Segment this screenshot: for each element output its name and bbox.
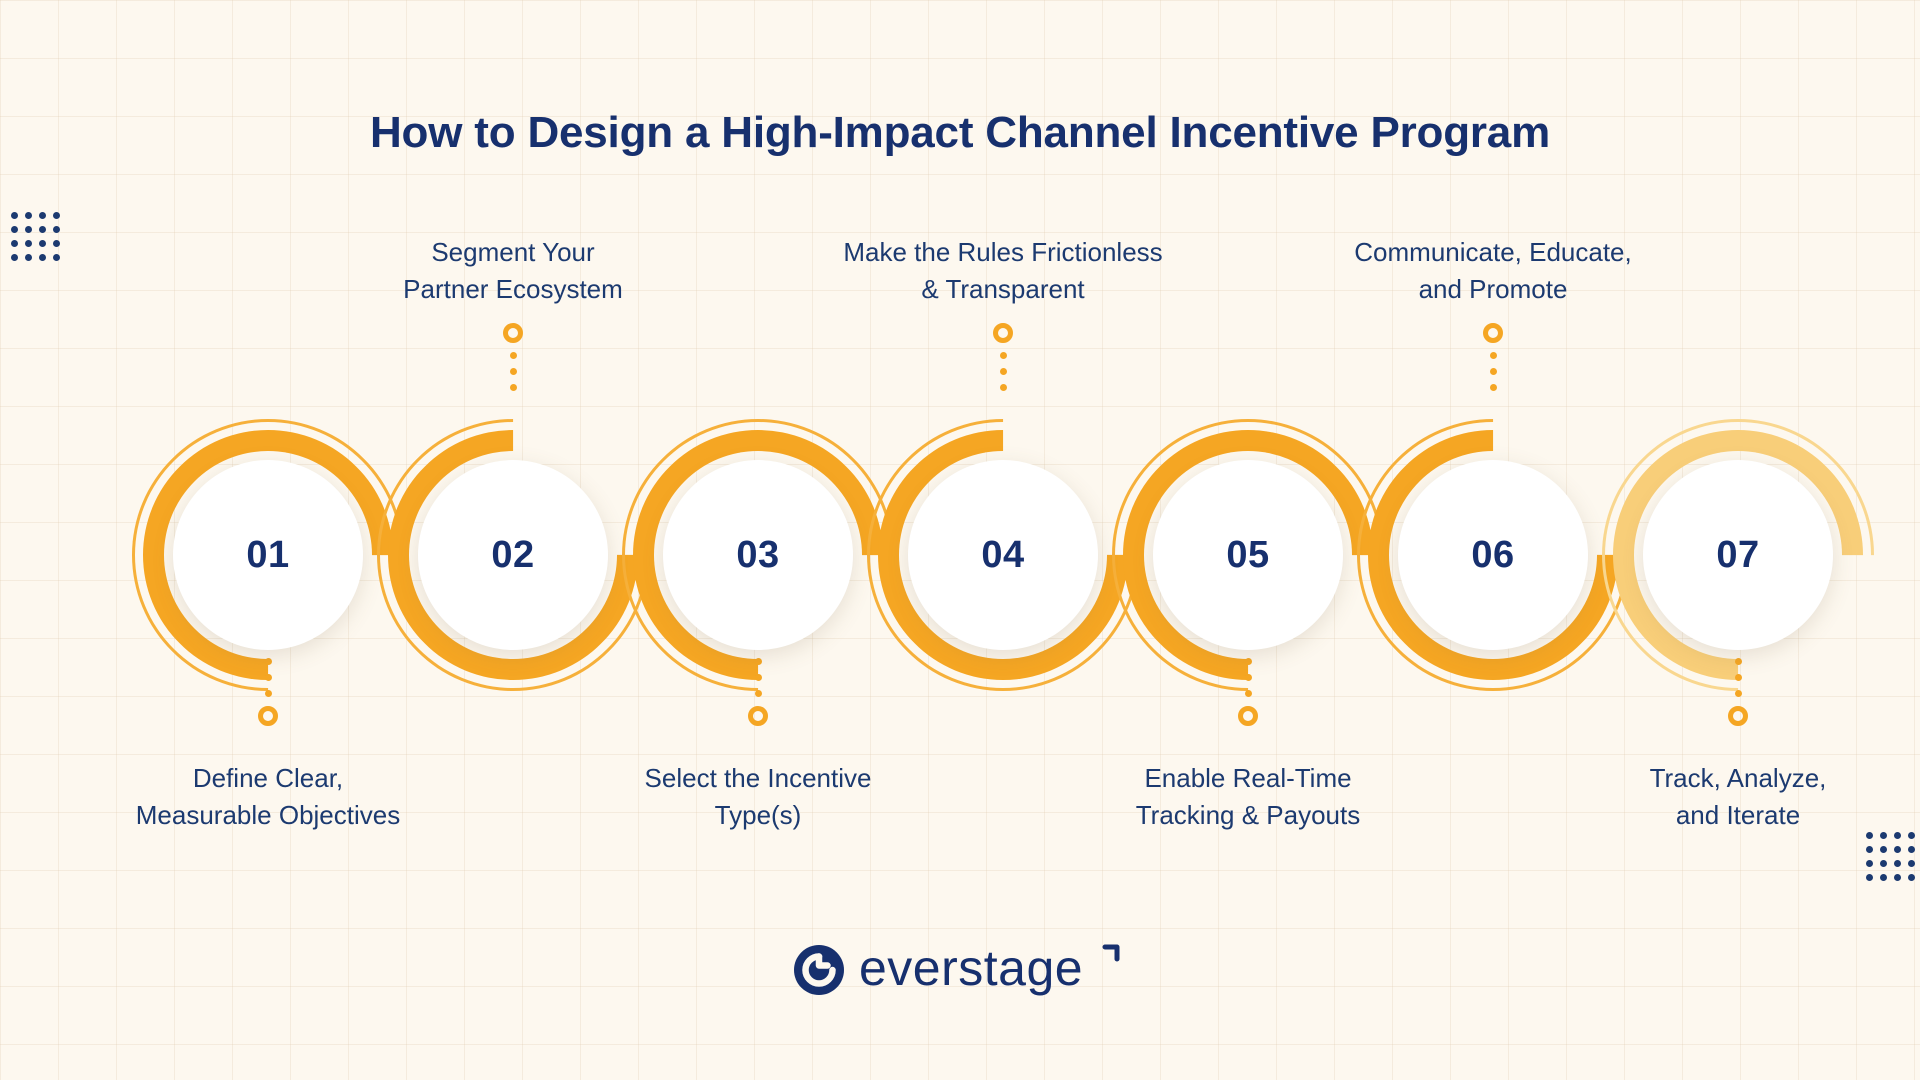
step-number-label: 01 xyxy=(246,534,289,577)
step-circle-03[interactable]: 03 xyxy=(663,460,853,650)
connector-dot xyxy=(1000,384,1007,391)
step-connector-06 xyxy=(1483,323,1503,391)
step-circle-01[interactable]: 01 xyxy=(173,460,363,650)
decorative-dot xyxy=(1866,860,1873,867)
decorative-dot xyxy=(53,254,60,261)
step-caption-05: Enable Real-Time Tracking & Payouts xyxy=(1038,760,1458,834)
decorative-dot xyxy=(1880,874,1887,881)
connector-ring-icon xyxy=(748,706,768,726)
connector-dot xyxy=(1000,352,1007,359)
decorative-dot xyxy=(53,212,60,219)
connector-dot xyxy=(1490,384,1497,391)
decorative-dot xyxy=(39,240,46,247)
connector-dot xyxy=(1245,658,1252,665)
step-connector-04 xyxy=(993,323,1013,391)
connector-dot xyxy=(1000,368,1007,375)
connector-ring-icon xyxy=(1483,323,1503,343)
decorative-dot xyxy=(1908,860,1915,867)
step-number-label: 06 xyxy=(1471,534,1514,577)
step-caption-06: Communicate, Educate, and Promote xyxy=(1283,234,1703,308)
step-number-label: 02 xyxy=(491,534,534,577)
decorative-dots-top-left xyxy=(7,208,63,264)
everstage-wordmark: everstage xyxy=(859,938,1127,1007)
step-number-label: 07 xyxy=(1716,534,1759,577)
step-number-label: 03 xyxy=(736,534,779,577)
decorative-dot xyxy=(11,226,18,233)
decorative-dot xyxy=(11,240,18,247)
decorative-dot xyxy=(39,226,46,233)
decorative-dot xyxy=(1880,846,1887,853)
step-circle-06[interactable]: 06 xyxy=(1398,460,1588,650)
decorative-dot xyxy=(1866,846,1873,853)
step-connector-02 xyxy=(503,323,523,391)
decorative-dot xyxy=(11,254,18,261)
step-connector-03 xyxy=(748,658,768,726)
connector-dot xyxy=(1245,690,1252,697)
decorative-dot xyxy=(1894,846,1901,853)
step-caption-03: Select the Incentive Type(s) xyxy=(548,760,968,834)
decorative-dot xyxy=(39,212,46,219)
decorative-dot xyxy=(25,212,32,219)
connector-dot xyxy=(1735,674,1742,681)
decorative-dot xyxy=(25,254,32,261)
step-caption-01: Define Clear, Measurable Objectives xyxy=(58,760,478,834)
decorative-dot xyxy=(25,226,32,233)
step-number-label: 04 xyxy=(981,534,1024,577)
step-circle-05[interactable]: 05 xyxy=(1153,460,1343,650)
connector-dot xyxy=(755,658,762,665)
decorative-dot xyxy=(1894,874,1901,881)
step-number-label: 05 xyxy=(1226,534,1269,577)
decorative-dot xyxy=(1880,860,1887,867)
connector-dot xyxy=(1735,658,1742,665)
step-caption-07: Track, Analyze, and Iterate xyxy=(1528,760,1920,834)
step-connector-01 xyxy=(258,658,278,726)
decorative-dot xyxy=(53,226,60,233)
decorative-dot xyxy=(1866,874,1873,881)
connector-ring-icon xyxy=(1728,706,1748,726)
connector-dot xyxy=(265,690,272,697)
step-circle-02[interactable]: 02 xyxy=(418,460,608,650)
connector-ring-icon xyxy=(503,323,523,343)
connector-dot xyxy=(1735,690,1742,697)
step-circle-07[interactable]: 07 xyxy=(1643,460,1833,650)
connector-dot xyxy=(1245,674,1252,681)
connector-ring-icon xyxy=(993,323,1013,343)
connector-dot xyxy=(510,384,517,391)
decorative-dot xyxy=(53,240,60,247)
connector-dot xyxy=(265,674,272,681)
decorative-dot xyxy=(1908,846,1915,853)
page-title: How to Design a High-Impact Channel Ince… xyxy=(0,108,1920,158)
connector-ring-icon xyxy=(1238,706,1258,726)
svg-text:everstage: everstage xyxy=(859,940,1083,996)
step-rail: 01020304050607 xyxy=(0,430,1920,680)
step-caption-02: Segment Your Partner Ecosystem xyxy=(303,234,723,308)
step-caption-04: Make the Rules Frictionless & Transparen… xyxy=(793,234,1213,308)
everstage-logo: everstage xyxy=(0,938,1920,1007)
connector-dot xyxy=(510,352,517,359)
step-connector-05 xyxy=(1238,658,1258,726)
decorative-dot xyxy=(1894,860,1901,867)
connector-dot xyxy=(510,368,517,375)
connector-dot xyxy=(1490,352,1497,359)
connector-dot xyxy=(755,690,762,697)
decorative-dot xyxy=(39,254,46,261)
connector-dot xyxy=(755,674,762,681)
step-connector-07 xyxy=(1728,658,1748,726)
decorative-dot xyxy=(1908,874,1915,881)
step-circle-04[interactable]: 04 xyxy=(908,460,1098,650)
everstage-circle-icon xyxy=(793,944,845,1001)
connector-dot xyxy=(1490,368,1497,375)
connector-ring-icon xyxy=(258,706,278,726)
decorative-dot xyxy=(11,212,18,219)
connector-dot xyxy=(265,658,272,665)
decorative-dots-bottom-right xyxy=(1862,828,1918,884)
decorative-dot xyxy=(25,240,32,247)
